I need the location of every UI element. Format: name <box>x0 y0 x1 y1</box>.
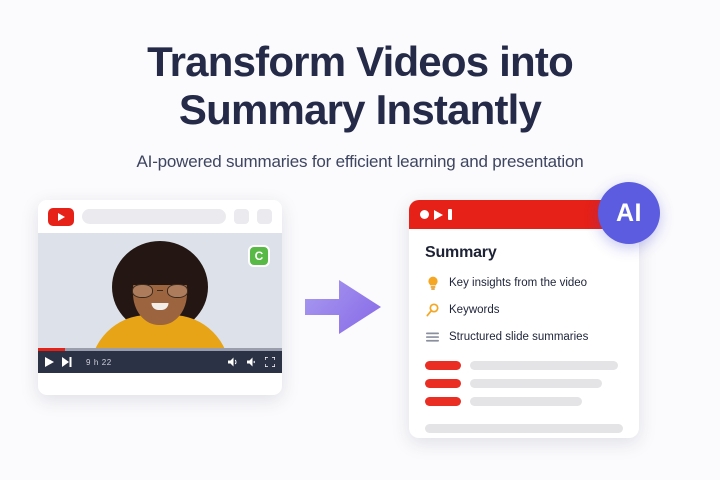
list-item-label: Structured slide summaries <box>449 331 588 343</box>
arrow-right-icon <box>303 278 383 336</box>
list-lines-icon <box>425 329 440 345</box>
list-item: Structured slide summaries <box>425 329 623 345</box>
headline-line-1: Transform Videos into <box>147 38 573 85</box>
skeleton-bar <box>470 379 602 388</box>
skeleton-bar <box>425 424 623 433</box>
lens-left <box>132 284 153 298</box>
window-control-square-icon[interactable] <box>257 209 272 224</box>
player-control-bar[interactable]: 9 h 22 <box>38 351 282 373</box>
glasses-icon <box>132 283 188 298</box>
youtube-triangle <box>58 213 65 221</box>
list-item <box>425 361 623 370</box>
pause-bar-icon <box>448 209 452 220</box>
browser-toolbar <box>38 200 282 233</box>
record-dot-icon <box>420 210 429 219</box>
skip-next-icon[interactable] <box>62 357 72 367</box>
progress-scrubber[interactable] <box>38 348 282 351</box>
caption-badge[interactable]: C <box>248 245 270 267</box>
page-subtitle: AI-powered summaries for efficient learn… <box>0 152 720 172</box>
hero-section: Transform Videos into Summary Instantly … <box>0 0 720 172</box>
list-item-label: Key insights from the video <box>449 277 587 289</box>
play-icon[interactable] <box>45 357 54 367</box>
skeleton-pill <box>425 361 461 370</box>
lens-right <box>167 284 188 298</box>
summary-card-body: Summary Key insights from the video <box>409 229 639 406</box>
list-item-label: Keywords <box>449 304 500 316</box>
fullscreen-icon[interactable] <box>265 357 275 367</box>
window-control-square-icon[interactable] <box>234 209 249 224</box>
summary-title: Summary <box>425 244 623 262</box>
list-item: Keywords <box>425 302 623 318</box>
skeleton-placeholder-list <box>425 361 623 406</box>
video-thumbnail[interactable]: C 9 h 22 <box>38 233 282 373</box>
play-icon <box>434 210 443 220</box>
volume-low-icon[interactable] <box>247 357 257 367</box>
skeleton-pill <box>425 397 461 406</box>
page-title: Transform Videos into Summary Instantly <box>0 38 720 134</box>
illustration-stage: C 9 h 22 <box>0 190 720 470</box>
volume-high-icon[interactable] <box>228 357 239 367</box>
headline-line-2: Summary Instantly <box>179 86 541 133</box>
ai-badge[interactable]: AI <box>598 182 660 244</box>
progress-fill <box>38 348 65 351</box>
feature-list: Key insights from the video Keywords <box>425 275 623 345</box>
list-item <box>425 397 623 406</box>
youtube-play-icon[interactable] <box>48 208 74 226</box>
summary-card[interactable]: Summary Key insights from the video <box>409 200 639 438</box>
list-item <box>425 379 623 388</box>
lightbulb-icon <box>425 275 440 291</box>
search-key-icon <box>425 302 440 318</box>
skeleton-bar <box>470 361 618 370</box>
list-item: Key insights from the video <box>425 275 623 291</box>
timecode-label: 9 h 22 <box>86 358 112 367</box>
skeleton-pill <box>425 379 461 388</box>
glasses-bridge <box>157 290 163 292</box>
skeleton-bar <box>470 397 582 406</box>
player-left-controls: 9 h 22 <box>45 357 112 367</box>
hair-front <box>121 245 199 285</box>
player-right-controls <box>228 357 275 367</box>
video-player-card[interactable]: C 9 h 22 <box>38 200 282 395</box>
url-input[interactable] <box>82 209 226 224</box>
